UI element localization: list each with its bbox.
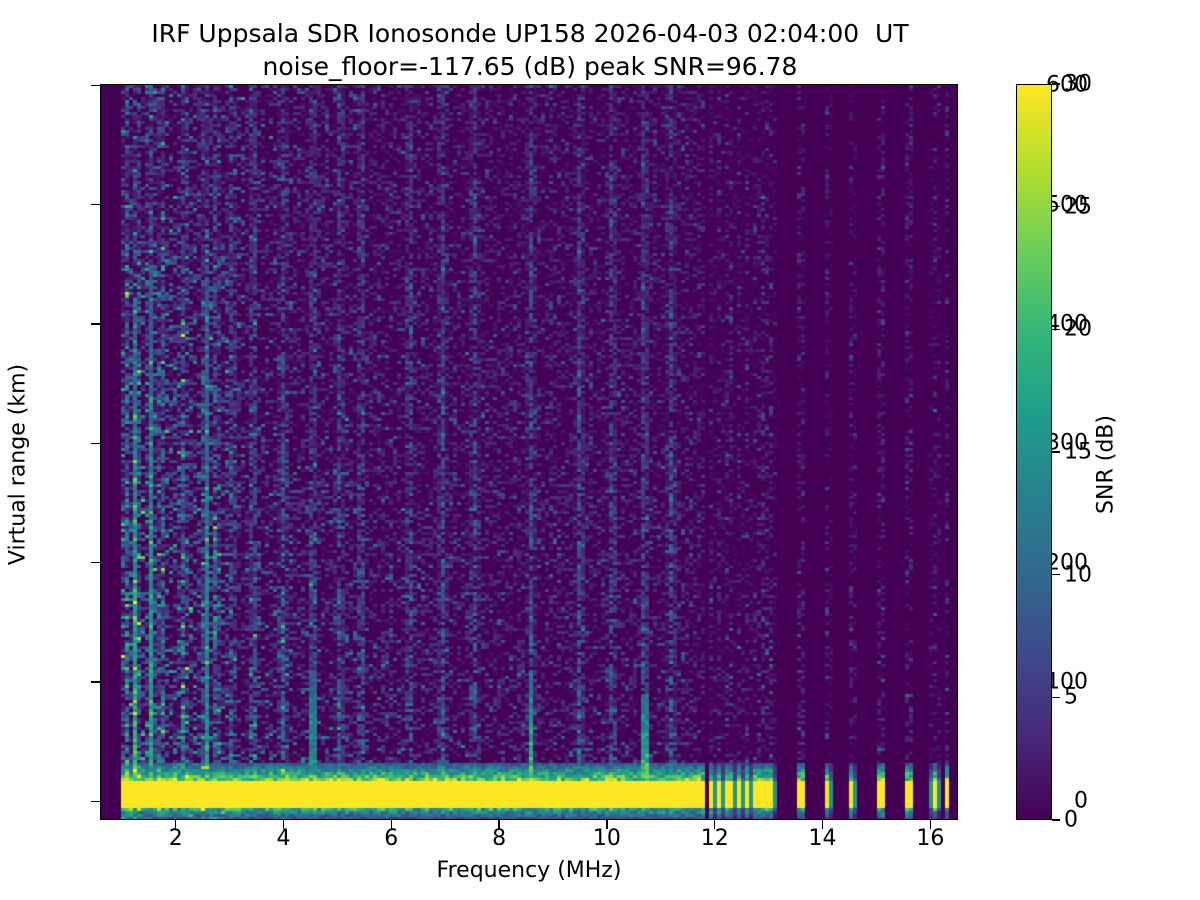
colorbar-tick-mark: [1052, 83, 1060, 84]
y-tick-mark: [91, 443, 100, 444]
ionogram-figure: IRF Uppsala SDR Ionosonde UP158 2026-04-…: [0, 0, 1200, 900]
ionogram-heatmap: [101, 85, 957, 819]
colorbar-tick-label: 20: [1064, 317, 1092, 342]
colorbar-tick-mark: [1052, 451, 1060, 452]
colorbar-tick-mark: [1052, 819, 1060, 820]
x-tick-label: 4: [276, 826, 290, 851]
x-tick-label: 14: [809, 826, 837, 851]
y-axis: Virtual range (km): [0, 0, 100, 900]
title-line-2: noise_floor=-117.65 (dB) peak SNR=96.78: [0, 51, 1060, 84]
colorbar[interactable]: [1016, 84, 1052, 820]
x-tick-label: 6: [384, 826, 398, 851]
colorbar-tick-label: 25: [1064, 194, 1092, 219]
x-tick-label: 16: [916, 826, 944, 851]
y-tick-mark: [91, 323, 100, 324]
colorbar-gradient: [1017, 85, 1051, 819]
ionogram-plot-area[interactable]: [100, 84, 958, 820]
colorbar-tick-label: 15: [1064, 440, 1092, 465]
x-tick-label: 8: [492, 826, 506, 851]
figure-title: IRF Uppsala SDR Ionosonde UP158 2026-04-…: [0, 18, 1060, 83]
colorbar-label: SNR (dB): [1094, 305, 1119, 625]
colorbar-tick-mark: [1052, 574, 1060, 575]
x-axis-label: Frequency (MHz): [100, 858, 958, 883]
colorbar-tick-mark: [1052, 329, 1060, 330]
x-tick-label: 10: [593, 826, 621, 851]
x-tick-label: 12: [701, 826, 729, 851]
y-tick-mark: [91, 85, 100, 86]
colorbar-tick-label: 0: [1064, 808, 1078, 833]
title-line-1: IRF Uppsala SDR Ionosonde UP158 2026-04-…: [0, 18, 1060, 51]
x-tick-label: 2: [169, 826, 183, 851]
y-tick-mark: [91, 681, 100, 682]
y-axis-label: Virtual range (km): [6, 305, 31, 625]
y-tick-mark: [91, 562, 100, 563]
colorbar-tick-label: 30: [1064, 72, 1092, 97]
colorbar-tick-label: 10: [1064, 562, 1092, 587]
colorbar-tick-mark: [1052, 697, 1060, 698]
colorbar-tick-label: 5: [1064, 685, 1078, 710]
colorbar-tick-mark: [1052, 206, 1060, 207]
y-tick-mark: [91, 204, 100, 205]
y-tick-mark: [91, 801, 100, 802]
